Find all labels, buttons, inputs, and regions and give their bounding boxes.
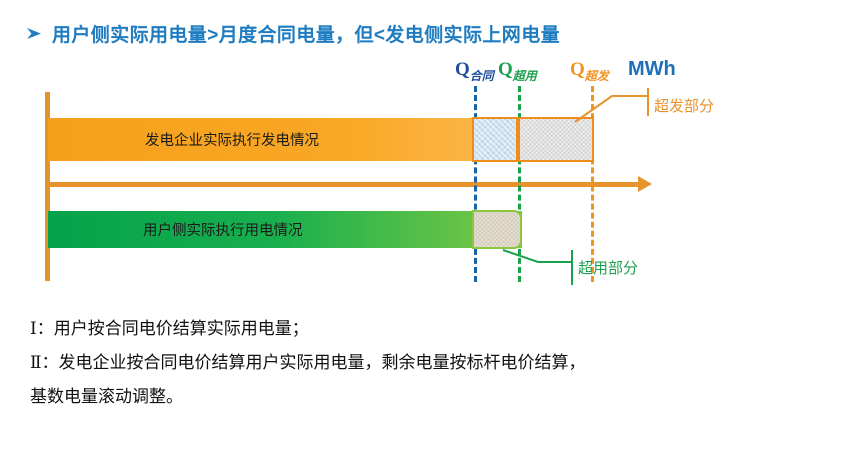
footnote-line-2: Ⅱ：发电企业按合同电价结算用户实际用电量，剩余电量按标杆电价结算， — [30, 346, 830, 380]
footnote-line-1: Ⅰ：用户按合同电价结算实际用电量； — [30, 312, 830, 346]
callout-overgeneration: 超发部分 — [654, 95, 714, 116]
callout-overconsumption: 超用部分 — [578, 257, 638, 278]
callout-leader-lines — [0, 0, 848, 300]
footnotes: Ⅰ：用户按合同电价结算实际用电量； Ⅱ：发电企业按合同电价结算用户实际用电量，剩… — [30, 312, 830, 414]
footnote-line-3: 基数电量滚动调整。 — [30, 380, 830, 414]
chart-diagram: Q合同 Q超用 Q超发 MWh 发电企业实际执行发电情况 用户侧实际执行用电情况… — [0, 0, 848, 300]
